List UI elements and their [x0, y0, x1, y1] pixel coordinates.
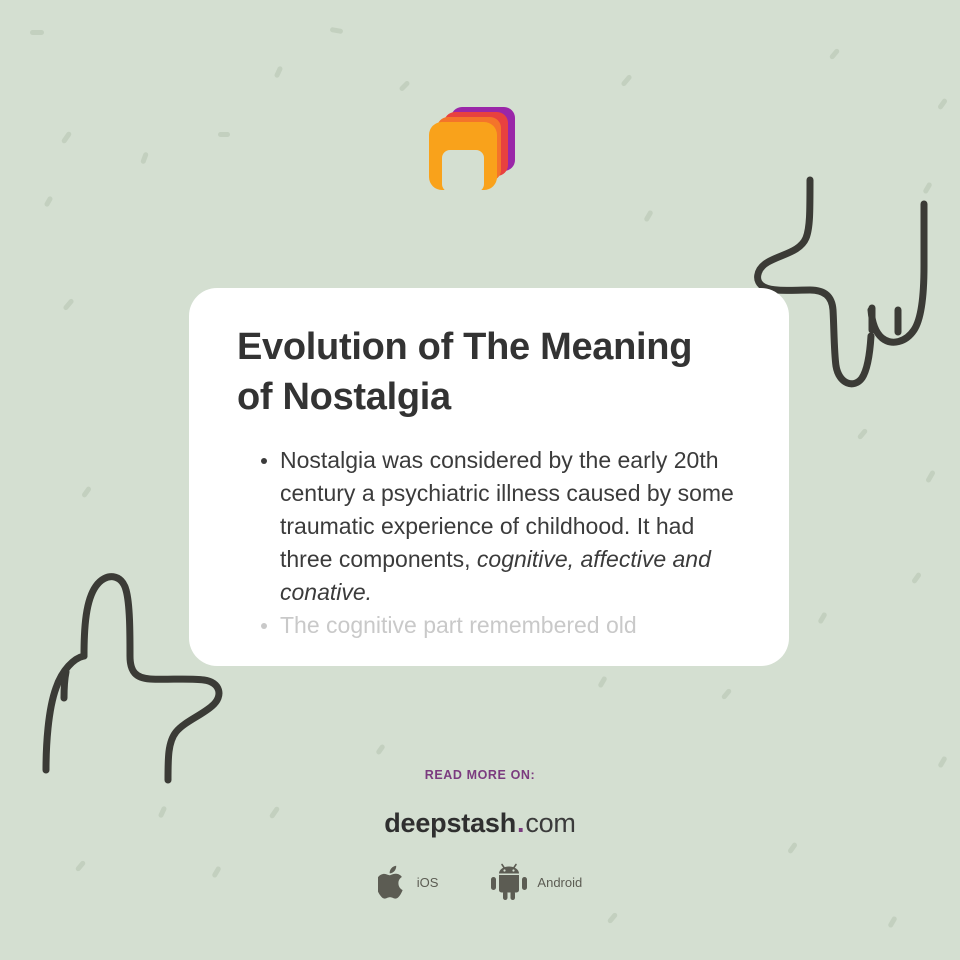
background-speckle — [81, 486, 92, 499]
page-title: Evolution of The Meaning of Nostalgia — [237, 322, 737, 422]
background-speckle — [925, 470, 936, 484]
background-speckle — [829, 48, 841, 60]
background-speckle — [44, 195, 54, 207]
background-speckle — [922, 182, 932, 195]
background-speckle — [398, 80, 410, 92]
logo-square-front — [429, 122, 497, 190]
background-speckle — [597, 676, 607, 689]
background-speckle — [330, 27, 344, 34]
background-speckle — [721, 688, 733, 700]
background-speckle — [140, 152, 149, 165]
idea-bullet-list: Nostalgia was considered by the early 20… — [237, 444, 741, 642]
bullet-text: The cognitive part remembered old — [280, 612, 637, 638]
brand-dot: . — [516, 808, 525, 838]
ios-badge[interactable]: iOS — [378, 864, 439, 900]
android-label: Android — [537, 875, 582, 890]
logo-inner-cutout — [442, 150, 484, 192]
list-item: The cognitive part remembered old — [261, 609, 741, 642]
background-speckle — [61, 131, 73, 145]
read-more-label: READ MORE ON: — [0, 768, 960, 782]
background-speckle — [857, 428, 869, 440]
background-speckle — [937, 98, 948, 111]
brand-tld: com — [525, 808, 575, 838]
background-speckle — [30, 30, 44, 35]
background-speckle — [643, 210, 653, 223]
background-speckle — [620, 74, 632, 87]
list-item: Nostalgia was considered by the early 20… — [261, 444, 741, 609]
background-speckle — [937, 756, 947, 769]
background-speckle — [274, 66, 284, 79]
background-speckle — [62, 298, 74, 311]
background-speckle — [375, 744, 385, 756]
ios-label: iOS — [417, 875, 439, 890]
background-speckle — [607, 912, 619, 924]
app-store-badges: iOS Android — [0, 863, 960, 901]
footer: READ MORE ON: deepstash.com iOS — [0, 768, 960, 901]
background-speckle — [887, 916, 897, 929]
brand-wordmark[interactable]: deepstash.com — [0, 808, 960, 839]
apple-icon — [378, 864, 408, 900]
background-speckle — [817, 612, 827, 625]
android-icon — [490, 863, 528, 901]
brand-name: deepstash — [384, 808, 516, 838]
background-speckle — [911, 572, 922, 585]
android-badge[interactable]: Android — [490, 863, 582, 901]
background-speckle — [218, 132, 230, 137]
idea-card: Evolution of The Meaning of Nostalgia No… — [189, 288, 789, 666]
deepstash-logo — [429, 107, 517, 195]
